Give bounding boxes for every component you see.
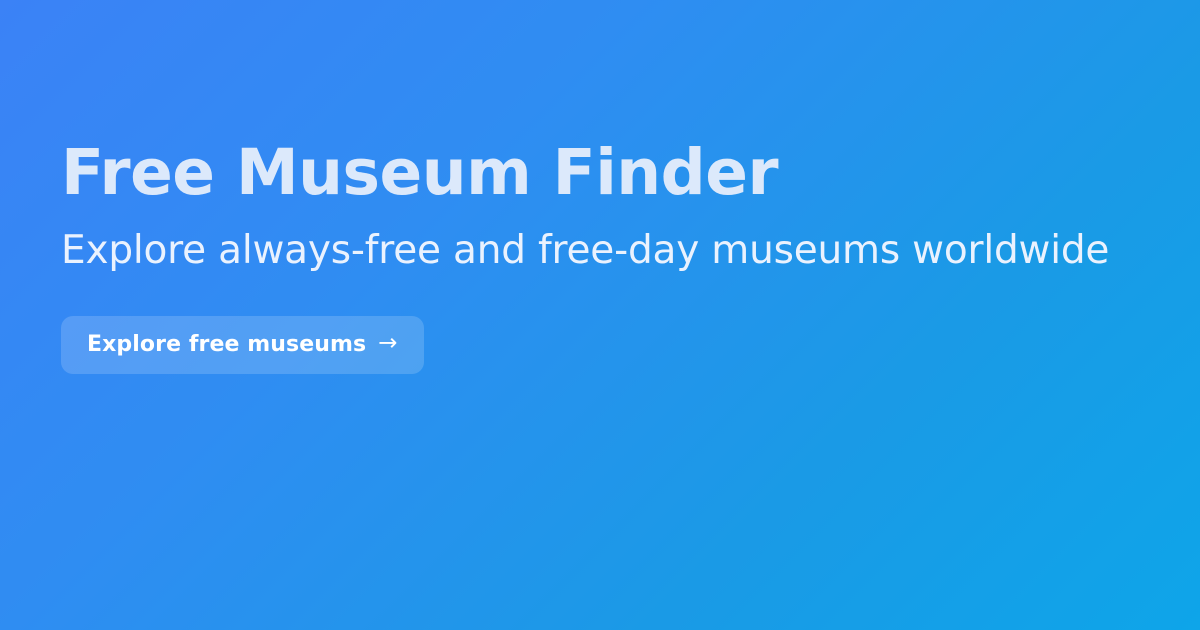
cta-label: Explore free museums (87, 332, 366, 357)
arrow-right-icon: → (378, 332, 397, 355)
hero-content: Free Museum Finder Explore always-free a… (61, 140, 1121, 374)
cta-row: Explore free museums → (61, 275, 1121, 374)
page-title: Free Museum Finder (61, 140, 1121, 206)
hero-banner: Free Museum Finder Explore always-free a… (0, 0, 1200, 630)
explore-free-museums-button[interactable]: Explore free museums → (61, 316, 424, 374)
page-subtitle: Explore always-free and free-day museums… (61, 206, 1121, 275)
